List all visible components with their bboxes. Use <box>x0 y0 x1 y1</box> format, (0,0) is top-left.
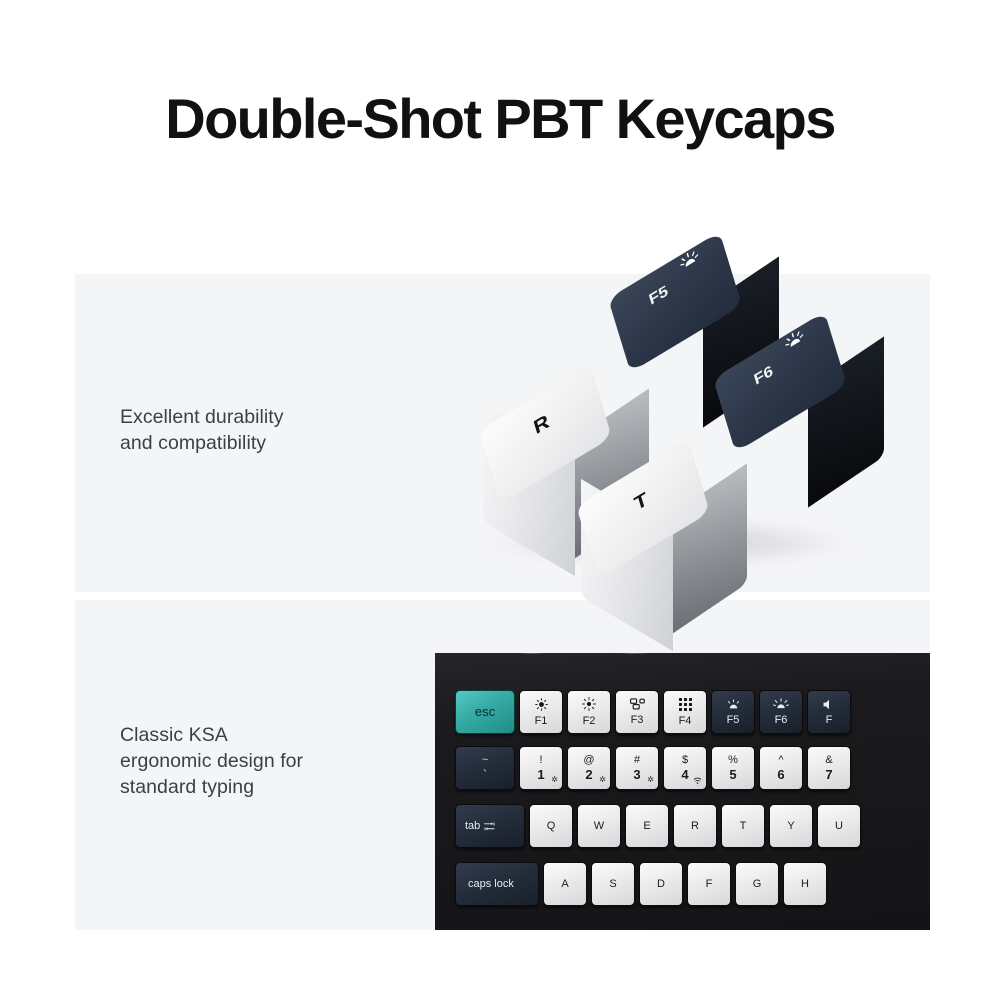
key-t[interactable]: T <box>721 804 765 848</box>
key-w[interactable]: W <box>577 804 621 848</box>
keyboard-home-row: caps lock A S D F G H <box>455 862 827 906</box>
key-f[interactable]: F <box>687 862 731 906</box>
key-f4[interactable]: F4 <box>663 690 707 734</box>
key-r[interactable]: R <box>673 804 717 848</box>
key-g[interactable]: G <box>735 862 779 906</box>
keyboard-knob <box>519 653 545 654</box>
bluetooth-icon: ✲ <box>551 776 558 784</box>
tab-arrows-icon <box>484 822 495 831</box>
key-h[interactable]: H <box>783 862 827 906</box>
key-d[interactable]: D <box>639 862 683 906</box>
brightness-down-icon <box>535 698 548 711</box>
key-3[interactable]: # 3 ✲ <box>615 746 659 790</box>
key-caps-lock[interactable]: caps lock <box>455 862 539 906</box>
key-tilde[interactable]: ~ ` <box>455 746 515 790</box>
brightness-up-icon <box>582 697 596 711</box>
key-q[interactable]: Q <box>529 804 573 848</box>
volume-icon <box>823 699 835 710</box>
backlight-down-icon <box>726 699 741 710</box>
key-e[interactable]: E <box>625 804 669 848</box>
keyboard-number-row: ~ ` ! 1 ✲ @ 2 ✲ # 3 ✲ <box>455 746 851 790</box>
key-f7[interactable]: F <box>807 690 851 734</box>
key-esc[interactable]: esc <box>455 690 515 734</box>
wifi-icon <box>693 777 702 784</box>
key-f1[interactable]: F1 <box>519 690 563 734</box>
bluetooth-icon: ✲ <box>647 776 654 784</box>
keycap-t: T <box>578 444 708 574</box>
key-4[interactable]: $ 4 <box>663 746 707 790</box>
key-2[interactable]: @ 2 ✲ <box>567 746 611 790</box>
keycap-render-image: F5 <box>460 219 930 619</box>
product-feature-page: Double-Shot PBT Keycaps Excellent durabi… <box>0 0 1000 1000</box>
key-s[interactable]: S <box>591 862 635 906</box>
keyboard-knob <box>621 653 647 654</box>
key-6[interactable]: ^ 6 <box>759 746 803 790</box>
key-7[interactable]: & 7 <box>807 746 851 790</box>
panel-caption-durability: Excellent durability and compatibility <box>120 404 284 456</box>
mission-control-icon <box>630 698 645 710</box>
keyboard-function-row: esc F1 <box>455 690 851 734</box>
key-a[interactable]: A <box>543 862 587 906</box>
key-f6[interactable]: F6 <box>759 690 803 734</box>
panel-caption-ergonomic: Classic KSA ergonomic design for standar… <box>120 722 303 800</box>
keycap-f6: F6 <box>715 317 845 447</box>
key-u[interactable]: U <box>817 804 861 848</box>
key-5[interactable]: % 5 <box>711 746 755 790</box>
backlight-up-icon <box>773 698 789 710</box>
key-f3[interactable]: F3 <box>615 690 659 734</box>
key-f2[interactable]: F2 <box>567 690 611 734</box>
keyboard-photo: esc F1 <box>435 653 930 930</box>
key-y[interactable]: Y <box>769 804 813 848</box>
key-tab[interactable]: tab <box>455 804 525 848</box>
feature-panel-durability: Excellent durability and compatibility F… <box>75 274 930 592</box>
launchpad-icon <box>679 698 692 711</box>
key-1[interactable]: ! 1 ✲ <box>519 746 563 790</box>
page-title: Double-Shot PBT Keycaps <box>0 86 1000 151</box>
feature-panel-ergonomic: Classic KSA ergonomic design for standar… <box>75 600 930 930</box>
keyboard-qwerty-row: tab <box>455 804 861 848</box>
key-f5[interactable]: F5 <box>711 690 755 734</box>
bluetooth-icon: ✲ <box>599 776 606 784</box>
